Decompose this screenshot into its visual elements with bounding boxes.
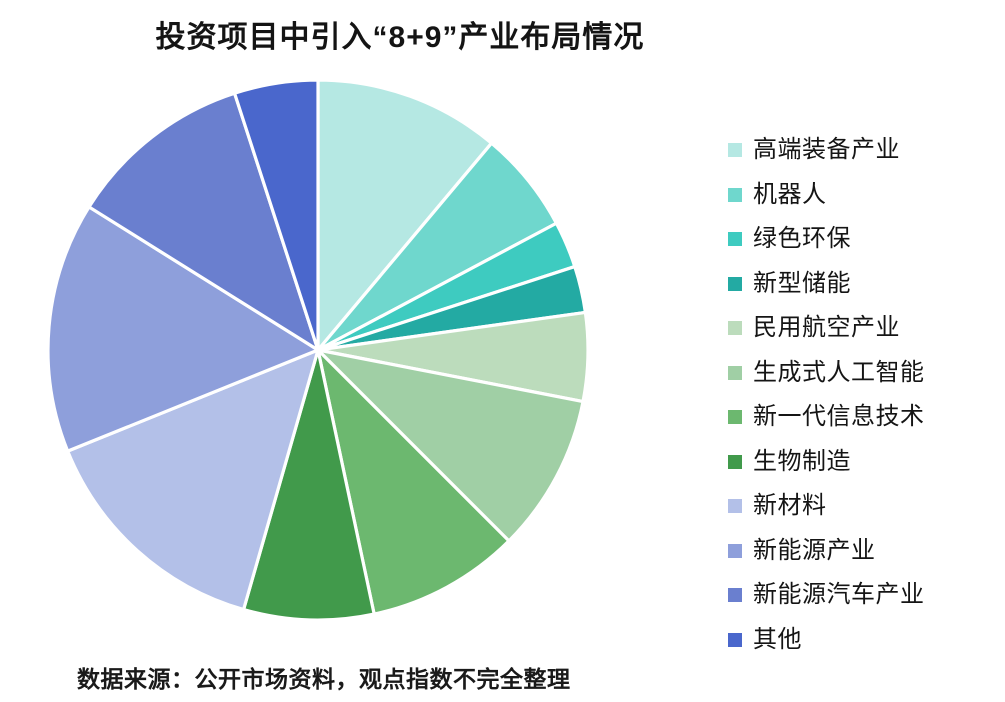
legend-item[interactable]: 新材料: [728, 484, 1000, 529]
legend-swatch-icon: [728, 366, 742, 380]
legend-item-label: 新一代信息技术: [753, 405, 925, 429]
legend-item[interactable]: 高端装备产业: [728, 128, 1000, 173]
legend-item[interactable]: 民用航空产业: [728, 306, 1000, 351]
legend-item-label: 生成式人工智能: [753, 361, 925, 385]
legend-swatch-icon: [728, 633, 742, 647]
pie-chart-plot-area: [46, 78, 590, 622]
chart-legend: 高端装备产业机器人绿色环保新型储能民用航空产业生成式人工智能新一代信息技术生物制…: [728, 128, 1000, 662]
legend-item-label: 绿色环保: [753, 227, 851, 251]
source-note: 数据来源：公开市场资料，观点指数不完全整理: [77, 660, 571, 694]
legend-item[interactable]: 其他: [728, 618, 1000, 663]
legend-swatch-icon: [728, 410, 742, 424]
pie-slice-group: [48, 80, 588, 620]
chart-title: 投资项目中引入“8+9”产业布局情况: [0, 12, 800, 56]
legend-item-label: 机器人: [753, 183, 827, 207]
legend-item[interactable]: 新型储能: [728, 262, 1000, 307]
legend-item[interactable]: 绿色环保: [728, 217, 1000, 262]
legend-swatch-icon: [728, 499, 742, 513]
legend-swatch-icon: [728, 544, 742, 558]
legend-item[interactable]: 新能源产业: [728, 529, 1000, 574]
legend-swatch-icon: [728, 188, 742, 202]
legend-item-label: 生物制造: [753, 450, 851, 474]
legend-item-label: 新能源产业: [753, 539, 876, 563]
legend-swatch-icon: [728, 232, 742, 246]
pie-chart-figure: 投资项目中引入“8+9”产业布局情况 高端装备产业机器人绿色环保新型储能民用航空…: [0, 0, 1005, 702]
legend-swatch-icon: [728, 588, 742, 602]
legend-item[interactable]: 机器人: [728, 173, 1000, 218]
legend-swatch-icon: [728, 455, 742, 469]
legend-swatch-icon: [728, 321, 742, 335]
legend-item-label: 新型储能: [753, 272, 851, 296]
legend-item[interactable]: 新一代信息技术: [728, 395, 1000, 440]
legend-item[interactable]: 生物制造: [728, 440, 1000, 485]
pie-chart-svg: [46, 78, 590, 622]
legend-item-label: 其他: [753, 628, 802, 652]
legend-item[interactable]: 生成式人工智能: [728, 351, 1000, 396]
legend-item[interactable]: 新能源汽车产业: [728, 573, 1000, 618]
legend-item-label: 新能源汽车产业: [753, 583, 925, 607]
legend-swatch-icon: [728, 143, 742, 157]
legend-item-label: 新材料: [753, 494, 827, 518]
legend-item-label: 民用航空产业: [753, 316, 900, 340]
legend-swatch-icon: [728, 277, 742, 291]
legend-item-label: 高端装备产业: [753, 138, 900, 162]
